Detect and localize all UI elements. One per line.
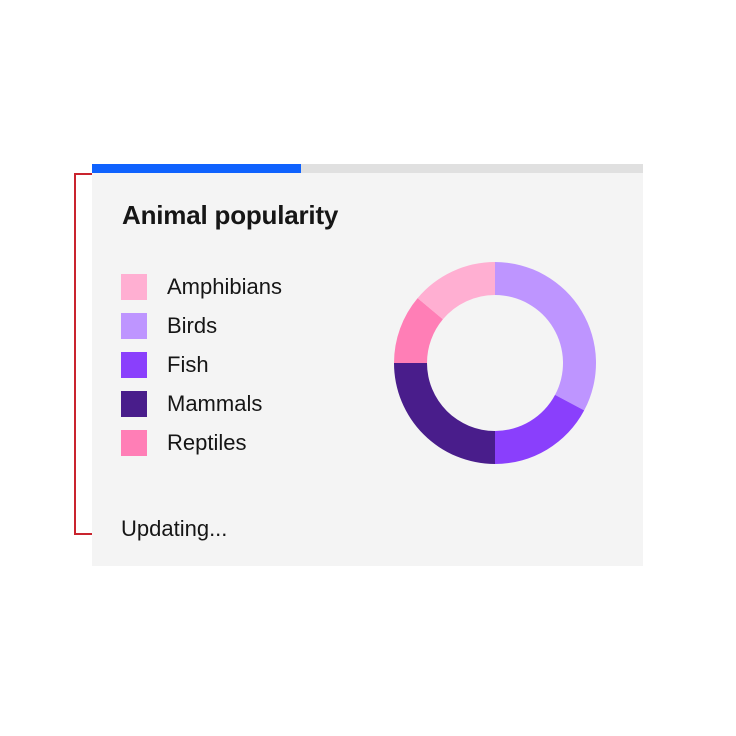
- legend-item-fish[interactable]: Fish: [121, 345, 361, 384]
- status-text: Updating...: [121, 516, 227, 542]
- chart-card: Animal popularity Amphibians Birds Fish …: [92, 164, 643, 566]
- legend-swatch-birds: [121, 313, 147, 339]
- page-title: Animal popularity: [122, 200, 338, 231]
- donut-slice-birds[interactable]: [495, 262, 596, 410]
- donut-slice-mammals[interactable]: [394, 363, 495, 464]
- legend-label-birds: Birds: [167, 313, 217, 339]
- legend-item-birds[interactable]: Birds: [121, 306, 361, 345]
- legend-label-mammals: Mammals: [167, 391, 262, 417]
- legend-label-reptiles: Reptiles: [167, 430, 246, 456]
- legend-swatch-fish: [121, 352, 147, 378]
- loading-progress-bar: [92, 164, 643, 173]
- chart-legend: Amphibians Birds Fish Mammals Reptiles: [121, 267, 361, 462]
- donut-chart-svg: [394, 262, 596, 464]
- legend-item-amphibians[interactable]: Amphibians: [121, 267, 361, 306]
- loading-progress-fill: [92, 164, 301, 173]
- legend-swatch-mammals: [121, 391, 147, 417]
- bracket-vertical-line: [74, 173, 76, 535]
- legend-item-mammals[interactable]: Mammals: [121, 384, 361, 423]
- legend-label-fish: Fish: [167, 352, 209, 378]
- legend-swatch-reptiles: [121, 430, 147, 456]
- legend-swatch-amphibians: [121, 274, 147, 300]
- donut-slice-fish[interactable]: [495, 395, 584, 464]
- donut-chart: [394, 262, 596, 464]
- legend-label-amphibians: Amphibians: [167, 274, 282, 300]
- legend-item-reptiles[interactable]: Reptiles: [121, 423, 361, 462]
